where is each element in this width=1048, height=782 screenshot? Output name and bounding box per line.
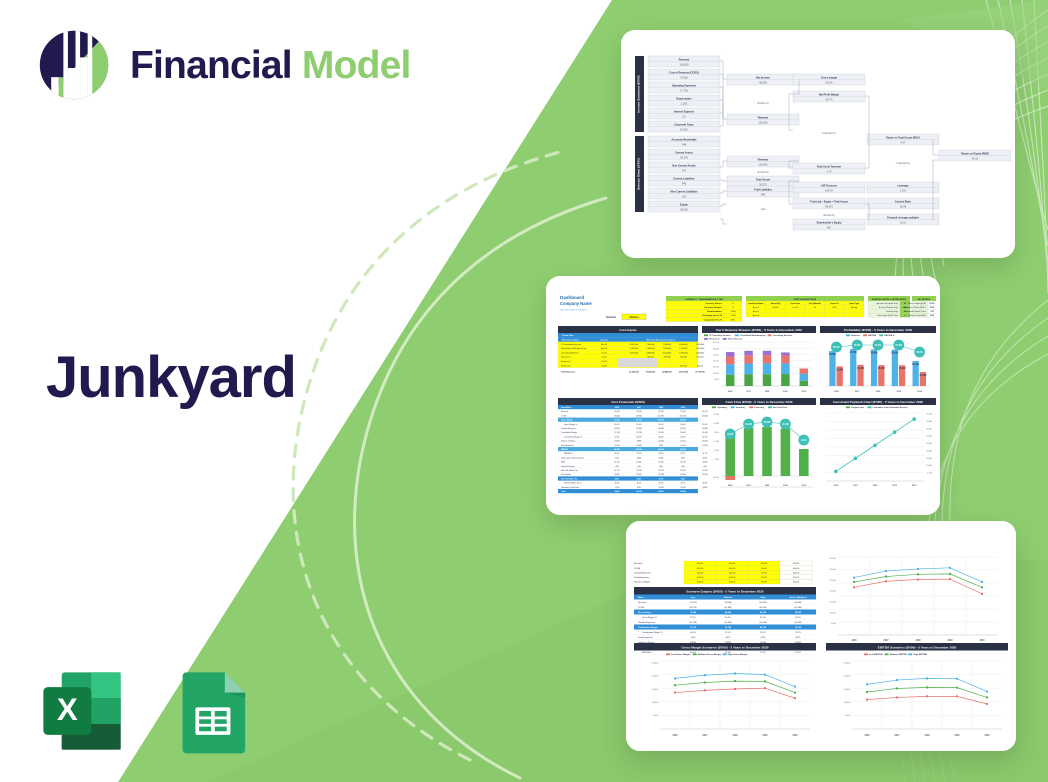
svg-text:100.0%: 100.0% bbox=[729, 568, 736, 570]
svg-text:Other Revenue: Other Revenue bbox=[728, 338, 743, 341]
svg-text:Revenue 5: Revenue 5 bbox=[561, 361, 572, 363]
svg-text:76,750: 76,750 bbox=[795, 627, 802, 629]
svg-text:Investment Payback Chart ($'00: Investment Payback Chart ($'000) - 5 Yea… bbox=[833, 400, 923, 404]
svg-text:948: 948 bbox=[682, 143, 687, 146]
svg-text:2027: 2027 bbox=[702, 735, 708, 737]
svg-text:10,000: 10,000 bbox=[713, 423, 719, 425]
svg-text:CURRENCY / DENOMINATION & TAX: CURRENCY / DENOMINATION & TAX bbox=[685, 298, 724, 301]
svg-text:(12,060): (12,060) bbox=[759, 622, 767, 624]
svg-text:Revenue streams: Revenue streams bbox=[562, 339, 580, 342]
brand-word-model: Model bbox=[302, 44, 411, 87]
svg-text:Go to the Table of Contents: Go to the Table of Contents bbox=[560, 309, 587, 312]
svg-text:55.2%: 55.2% bbox=[760, 632, 766, 634]
svg-text:Gross Margin Scenarios ($'000): Gross Margin Scenarios ($'000) - 5 Years… bbox=[681, 645, 768, 649]
svg-text:18,200: 18,200 bbox=[912, 364, 920, 366]
svg-text:8,298: 8,298 bbox=[703, 478, 708, 480]
svg-text:(301): (301) bbox=[681, 457, 686, 459]
svg-text:Internal Rate of Return (IRR): Internal Rate of Return (IRR) % bbox=[902, 306, 926, 309]
scenario-canvas: Revenue80.0%100.0%120.0%100.0%COGS105.0%… bbox=[626, 521, 1016, 751]
svg-text:Variable Expenses: Variable Expenses bbox=[561, 427, 576, 430]
svg-text:(16,720): (16,720) bbox=[680, 415, 687, 417]
svg-text:30,000: 30,000 bbox=[926, 450, 932, 452]
svg-text:Corporate Taxes: Corporate Taxes bbox=[674, 123, 694, 126]
svg-text:7,568,000: 7,568,000 bbox=[663, 344, 671, 346]
svg-text:79,120: 79,120 bbox=[680, 411, 686, 413]
svg-text:(48): (48) bbox=[681, 466, 685, 468]
svg-text:61.03: 61.03 bbox=[972, 157, 979, 160]
svg-text:6,000: 6,000 bbox=[714, 441, 719, 443]
brand-logo: Financial Model bbox=[36, 27, 411, 103]
svg-text:8,192: 8,192 bbox=[659, 478, 664, 480]
svg-text:(47,880): (47,880) bbox=[794, 607, 802, 609]
svg-text:Launch: Launch bbox=[600, 340, 608, 342]
svg-text:Contribution Margin %: Contribution Margin % bbox=[564, 435, 583, 438]
svg-text:26,600: 26,600 bbox=[871, 352, 879, 354]
svg-text:50,006: 50,006 bbox=[680, 156, 688, 159]
svg-text:34.0%: 34.0% bbox=[658, 453, 663, 455]
svg-text:59,270: 59,270 bbox=[658, 420, 664, 422]
svg-text:65.0%: 65.0% bbox=[636, 424, 641, 426]
svg-text:Net Profit After Tax %: Net Profit After Tax % bbox=[564, 482, 582, 485]
svg-text:12,138: 12,138 bbox=[614, 432, 620, 434]
svg-text:Denominations: Denominations bbox=[707, 310, 723, 313]
svg-text:DEBT ASSUMPTIONS: DEBT ASSUMPTIONS bbox=[794, 298, 817, 301]
svg-text:2027: 2027 bbox=[883, 640, 889, 642]
svg-text:Profitability ($'000) - 5 Year: Profitability ($'000) - 5 Years to Decem… bbox=[844, 328, 913, 332]
svg-text:20,000: 20,000 bbox=[713, 361, 720, 363]
svg-text:16,630,000: 16,630,000 bbox=[629, 372, 638, 374]
svg-text:divided by: divided by bbox=[823, 213, 835, 217]
svg-text:6,510,000: 6,510,000 bbox=[630, 344, 638, 346]
dupont-flowchart: Income Statement ($'000)Balance Sheet ($… bbox=[621, 30, 1015, 258]
svg-text:Total Liabilities: Total Liabilities bbox=[754, 188, 773, 191]
svg-text:10,009: 10,009 bbox=[658, 487, 664, 489]
dupont-analysis-preview-card[interactable]: Income Statement ($'000)Balance Sheet ($… bbox=[621, 30, 1015, 258]
svg-text:Currency Source: Currency Source bbox=[705, 302, 723, 305]
svg-text:100.0%: 100.0% bbox=[793, 572, 800, 574]
svg-text:53.0%: 53.0% bbox=[614, 436, 619, 438]
svg-text:31.7%: 31.7% bbox=[702, 453, 707, 455]
svg-text:16,300: 16,300 bbox=[614, 411, 620, 413]
svg-text:Interest %: Interest % bbox=[830, 302, 839, 305]
svg-text:(16,780): (16,780) bbox=[658, 415, 665, 417]
svg-text:10,330: 10,330 bbox=[763, 422, 771, 424]
svg-text:(12,863): (12,863) bbox=[794, 622, 802, 624]
svg-text:20,000: 20,000 bbox=[652, 676, 659, 678]
svg-text:320,000: 320,000 bbox=[680, 365, 687, 367]
svg-text:(745): (745) bbox=[761, 637, 766, 639]
svg-text:(3,002): (3,002) bbox=[702, 474, 708, 476]
svg-text:(3,801): (3,801) bbox=[614, 474, 620, 476]
svg-text:25,500: 25,500 bbox=[829, 354, 837, 356]
svg-text:41,775: 41,775 bbox=[614, 470, 620, 472]
svg-text:Financial Leverage multiplier: Financial Leverage multiplier bbox=[887, 216, 919, 219]
svg-text:2030: 2030 bbox=[984, 735, 990, 737]
svg-text:88,102: 88,102 bbox=[760, 627, 767, 629]
svg-text:33.0%: 33.0% bbox=[702, 483, 707, 485]
svg-text:105.0%: 105.0% bbox=[697, 568, 704, 570]
svg-text:Medium: Medium bbox=[629, 316, 638, 319]
svg-text:(56): (56) bbox=[703, 466, 707, 468]
svg-text:30,000: 30,000 bbox=[713, 348, 720, 350]
svg-text:35,000: 35,000 bbox=[830, 558, 837, 560]
svg-text:EBITDA Scenarios ($'000) - 5 Y: EBITDA Scenarios ($'000) - 5 Years to De… bbox=[878, 645, 957, 649]
svg-text:High: High bbox=[761, 597, 767, 599]
svg-text:Fixed Expenses: Fixed Expenses bbox=[561, 445, 574, 447]
svg-text:15,400: 15,400 bbox=[857, 367, 865, 370]
svg-text:20,000: 20,000 bbox=[844, 676, 851, 678]
svg-text:Non Current Liabilities: Non Current Liabilities bbox=[671, 190, 698, 193]
svg-text:60: 60 bbox=[814, 307, 816, 309]
svg-text:25,000: 25,000 bbox=[652, 663, 659, 665]
svg-text:Cloud Back Manufacturing: Cloud Back Manufacturing bbox=[740, 334, 766, 337]
svg-text:10,196: 10,196 bbox=[782, 424, 790, 426]
page-title: Junkyard bbox=[46, 349, 296, 407]
svg-text:11,600: 11,600 bbox=[614, 420, 619, 422]
svg-text:Net Profit Before Tax: Net Profit Before Tax bbox=[561, 469, 578, 472]
svg-text:2028: 2028 bbox=[659, 407, 663, 409]
svg-text:Financing: Financing bbox=[755, 407, 765, 409]
svg-text:Operating Expenses: Operating Expenses bbox=[672, 84, 697, 87]
svg-text:77,560: 77,560 bbox=[636, 411, 642, 413]
svg-text:14,300: 14,300 bbox=[836, 368, 844, 371]
svg-text:Cloud Year: Cloud Year bbox=[562, 335, 574, 337]
svg-text:(3,848): (3,848) bbox=[658, 428, 664, 430]
svg-text:Gross Margin: Gross Margin bbox=[561, 419, 574, 422]
svg-text:Loan/Lease Name: Loan/Lease Name bbox=[748, 303, 763, 305]
svg-text:8,404: 8,404 bbox=[615, 490, 620, 493]
svg-text:COGS: COGS bbox=[638, 607, 645, 609]
svg-text:Net Profit After Tax: Net Profit After Tax bbox=[561, 477, 579, 480]
svg-text:2029: 2029 bbox=[947, 640, 953, 642]
svg-text:Total Asset Turnover: Total Asset Turnover bbox=[817, 165, 842, 168]
svg-text:(1,001): (1,001) bbox=[680, 445, 686, 447]
svg-text:164,380: 164,380 bbox=[759, 602, 767, 604]
svg-text:15,000: 15,000 bbox=[652, 689, 659, 691]
svg-text:Annuity: Annuity bbox=[851, 306, 857, 309]
svg-text:Low Gross Margin: Low Gross Margin bbox=[671, 654, 691, 656]
svg-text:COGS: COGS bbox=[561, 415, 567, 417]
svg-text:70,000: 70,000 bbox=[926, 421, 932, 423]
svg-text:20,000: 20,000 bbox=[830, 591, 837, 593]
svg-text:Grace Type: Grace Type bbox=[849, 303, 859, 305]
svg-text:Interest Expense: Interest Expense bbox=[674, 110, 695, 113]
svg-text:Investing: Investing bbox=[736, 406, 746, 409]
svg-text:Balance Sheet ($'000): Balance Sheet ($'000) bbox=[637, 158, 641, 190]
svg-text:15,000: 15,000 bbox=[844, 689, 851, 691]
svg-text:11,005: 11,005 bbox=[680, 487, 685, 489]
svg-text:100.0%: 100.0% bbox=[729, 572, 736, 574]
svg-text:18,214: 18,214 bbox=[636, 490, 642, 493]
svg-text:100.0%: 100.0% bbox=[729, 577, 736, 579]
svg-text:57.0%: 57.0% bbox=[896, 345, 903, 347]
svg-text:1.000: 1.000 bbox=[730, 315, 736, 317]
svg-text:78,110: 78,110 bbox=[702, 411, 707, 413]
svg-text:5: 5 bbox=[905, 315, 906, 317]
dashboard-canvas: DashboardCompany NameGo to the Table of … bbox=[546, 276, 940, 515]
svg-text:Gross Margin: Gross Margin bbox=[638, 611, 652, 614]
svg-text:2030: 2030 bbox=[703, 407, 707, 409]
svg-text:14,200: 14,200 bbox=[636, 462, 642, 464]
svg-text:72,844: 72,844 bbox=[690, 611, 697, 614]
svg-text:Total Liab + Equity = Total As: Total Liab + Equity = Total Assets bbox=[810, 200, 848, 203]
svg-text:48,828: 48,828 bbox=[759, 81, 767, 84]
svg-text:Return on Total Assets (ROA): Return on Total Assets (ROA) bbox=[886, 136, 920, 139]
svg-text:800: 800 bbox=[827, 226, 832, 229]
svg-text:Low EBITDA: Low EBITDA bbox=[869, 653, 883, 656]
svg-text:Low: Low bbox=[691, 597, 696, 599]
svg-text:Revenue: Revenue bbox=[638, 602, 647, 604]
svg-text:26,500: 26,500 bbox=[891, 353, 899, 355]
svg-text:(988): (988) bbox=[637, 441, 642, 443]
svg-text:28,440,000: 28,440,000 bbox=[662, 371, 671, 374]
svg-text:A/R Turnover: A/R Turnover bbox=[821, 184, 837, 187]
svg-text:95.0%: 95.0% bbox=[761, 568, 767, 570]
svg-text:Dashboard: Dashboard bbox=[560, 295, 584, 300]
svg-text:8,111: 8,111 bbox=[681, 478, 685, 480]
svg-text:1.0%: 1.0% bbox=[900, 189, 906, 192]
svg-text:Gross Margin %: Gross Margin % bbox=[642, 616, 657, 619]
svg-text:1,000: 1,000 bbox=[927, 473, 932, 475]
google-sheets-icon bbox=[166, 665, 258, 757]
svg-text:Corporation Tax %: Corporation Tax % bbox=[704, 318, 722, 321]
svg-text:48,009: 48,009 bbox=[658, 448, 664, 451]
svg-text:Exchange rate to 1$: Exchange rate to 1$ bbox=[702, 314, 722, 317]
brand-word-financial: Financial bbox=[130, 44, 292, 87]
svg-text:Active (Medium): Active (Medium) bbox=[790, 596, 807, 599]
svg-text:33.7%: 33.7% bbox=[680, 453, 685, 455]
svg-text:Total Assets: Total Assets bbox=[756, 178, 771, 181]
svg-text:Salaries & Wages: Salaries & Wages bbox=[561, 440, 576, 443]
svg-text:10,000: 10,000 bbox=[830, 612, 837, 614]
svg-text:Net Income: Net Income bbox=[756, 76, 770, 79]
svg-text:27,560,000: 27,560,000 bbox=[646, 372, 655, 374]
svg-text:1,050: 1,050 bbox=[930, 315, 934, 317]
svg-text:46.3%: 46.3% bbox=[690, 632, 696, 634]
svg-text:2029: 2029 bbox=[681, 407, 685, 409]
svg-text:1,265: 1,265 bbox=[681, 102, 688, 105]
svg-text:2028: 2028 bbox=[732, 735, 738, 737]
svg-text:Revenue: Revenue bbox=[851, 335, 861, 337]
svg-text:105.0%: 105.0% bbox=[697, 582, 704, 584]
svg-text:(837): (837) bbox=[796, 637, 801, 639]
svg-text:multiplied by: multiplied by bbox=[896, 161, 911, 165]
svg-text:11,812: 11,812 bbox=[702, 470, 707, 472]
svg-text:Top 5 Revenue Streams ($'000): Top 5 Revenue Streams ($'000) - 5 Years … bbox=[716, 328, 803, 332]
svg-text:(837): (837) bbox=[726, 637, 731, 639]
svg-text:Total Revenue: Total Revenue bbox=[561, 371, 576, 374]
svg-text:136,800: 136,800 bbox=[758, 121, 768, 124]
svg-text:Discounted Payback (Years): Discounted Payback (Years) bbox=[905, 310, 927, 313]
svg-text:Operating: Operating bbox=[717, 406, 727, 409]
svg-text:Revenue Forecast for years 1: Revenue Forecast for years 1 bbox=[647, 339, 677, 342]
scenario-analysis-preview-card[interactable]: Revenue80.0%100.0%120.0%100.0%COGS105.0%… bbox=[626, 521, 1016, 751]
svg-text:6,080,000: 6,080,000 bbox=[646, 352, 654, 354]
svg-text:0.97: 0.97 bbox=[901, 141, 906, 144]
svg-text:48,206: 48,206 bbox=[636, 448, 642, 451]
svg-text:Asset 1: Asset 1 bbox=[753, 306, 759, 309]
svg-text:146,800: 146,800 bbox=[794, 602, 802, 604]
svg-text:(987): (987) bbox=[659, 445, 664, 447]
svg-text:61.0%: 61.0% bbox=[930, 303, 935, 305]
svg-text:KEY METRICS: KEY METRICS bbox=[918, 299, 932, 301]
svg-text:100.0%: 100.0% bbox=[729, 582, 736, 584]
svg-text:68,774: 68,774 bbox=[636, 419, 642, 422]
svg-text:131,130: 131,130 bbox=[689, 602, 697, 604]
svg-text:146,800: 146,800 bbox=[724, 602, 732, 604]
svg-text:Equity: Equity bbox=[680, 203, 688, 206]
svg-text:(298): (298) bbox=[659, 457, 664, 459]
svg-text:15,000: 15,000 bbox=[830, 602, 837, 604]
svg-text:Actual/Plan: Actual/Plan bbox=[561, 406, 572, 409]
svg-text:Asset 2: Asset 2 bbox=[753, 310, 759, 313]
svg-text:14,000: 14,000 bbox=[697, 365, 703, 367]
svg-text:35.0%: 35.0% bbox=[636, 453, 641, 455]
svg-text:Jul-26: Jul-26 bbox=[601, 352, 607, 354]
svg-text:2030: 2030 bbox=[979, 640, 985, 642]
svg-text:25,000: 25,000 bbox=[830, 580, 837, 582]
svg-text:Medium EBITDA: Medium EBITDA bbox=[890, 653, 907, 656]
svg-text:5,000: 5,000 bbox=[653, 715, 659, 717]
svg-text:IT Consulting Services: IT Consulting Services bbox=[709, 334, 731, 337]
svg-text:60.4%: 60.4% bbox=[795, 617, 801, 619]
svg-text:34.0%: 34.0% bbox=[614, 483, 619, 485]
svg-text:5,000: 5,000 bbox=[831, 623, 837, 625]
svg-text:Jul-26: Jul-26 bbox=[601, 357, 607, 359]
svg-text:(291): (291) bbox=[703, 457, 708, 459]
svg-text:Shareholder's Equity: Shareholder's Equity bbox=[817, 221, 843, 224]
svg-text:Medium: Medium bbox=[724, 597, 732, 599]
svg-text:Revenue: Revenue bbox=[679, 58, 690, 61]
svg-text:56.0%: 56.0% bbox=[636, 436, 641, 438]
svg-text:136,800: 136,800 bbox=[679, 63, 689, 66]
svg-text:52.1%: 52.1% bbox=[725, 632, 731, 634]
svg-text:Non Current Assets: Non Current Assets bbox=[672, 164, 696, 167]
svg-text:5,000: 5,000 bbox=[714, 379, 720, 381]
svg-text:19.6%: 19.6% bbox=[930, 307, 935, 309]
svg-text:100.0%: 100.0% bbox=[729, 563, 736, 565]
svg-text:4,810,000: 4,810,000 bbox=[630, 352, 638, 354]
svg-text:58.7%: 58.7% bbox=[690, 617, 696, 619]
svg-text:38,002: 38,002 bbox=[680, 491, 686, 493]
svg-text:Gross Margin %: Gross Margin % bbox=[564, 423, 578, 426]
svg-text:55,990: 55,990 bbox=[658, 432, 664, 434]
svg-text:(2,891): (2,891) bbox=[636, 474, 642, 476]
svg-text:80.0%: 80.0% bbox=[697, 563, 703, 565]
svg-text:Tax Payable: Tax Payable bbox=[561, 474, 571, 476]
svg-text:50,576: 50,576 bbox=[825, 205, 833, 208]
svg-text:15,100: 15,100 bbox=[899, 368, 907, 370]
svg-text:8,246: 8,246 bbox=[727, 433, 733, 436]
svg-text:Jul-27: Jul-27 bbox=[601, 361, 607, 363]
svg-text:Jul-28: Jul-28 bbox=[601, 365, 607, 367]
svg-text:Variable Expenses: Variable Expenses bbox=[634, 571, 651, 574]
svg-text:20,926: 20,926 bbox=[680, 128, 688, 131]
svg-text:48,208: 48,208 bbox=[614, 448, 620, 451]
svg-text:Asset 3: Asset 3 bbox=[753, 314, 759, 317]
svg-text:98,340: 98,340 bbox=[760, 611, 767, 614]
svg-text:7,040,000: 7,040,000 bbox=[646, 344, 654, 346]
svg-text:50,000: 50,000 bbox=[926, 436, 932, 438]
svg-text:100.0%: 100.0% bbox=[793, 577, 800, 579]
svg-text:2029: 2029 bbox=[762, 735, 768, 737]
svg-text:Cumulative Cash Generated (los: Cumulative Cash Generated (losses) bbox=[873, 406, 908, 409]
svg-text:65.0%: 65.0% bbox=[702, 424, 707, 426]
svg-text:(8,320): (8,320) bbox=[702, 415, 708, 417]
dashboard-graphic: DashboardCompany NameGo to the Table of … bbox=[546, 276, 940, 515]
svg-text:(2,998): (2,998) bbox=[658, 474, 664, 476]
svg-text:6,030,000: 6,030,000 bbox=[696, 352, 704, 354]
svg-text:90.0%: 90.0% bbox=[761, 572, 767, 574]
svg-text:4,000: 4,000 bbox=[714, 450, 719, 452]
svg-text:Core Inputs: Core Inputs bbox=[619, 328, 636, 332]
svg-text:8,030,000: 8,030,000 bbox=[679, 344, 687, 346]
svg-text:Payback year: Payback year bbox=[851, 407, 864, 409]
svg-text:10,200: 10,200 bbox=[919, 375, 927, 377]
svg-text:33.7%: 33.7% bbox=[680, 483, 685, 485]
svg-text:65.0%: 65.0% bbox=[825, 81, 833, 84]
svg-text:100.0%: 100.0% bbox=[793, 582, 800, 584]
svg-text:8,247: 8,247 bbox=[637, 477, 642, 480]
svg-text:5,310,000: 5,310,000 bbox=[630, 348, 638, 350]
svg-text:13,299: 13,299 bbox=[680, 462, 686, 464]
svg-text:7,900: 7,900 bbox=[615, 487, 620, 489]
svg-text:Depreciation & Amortisation: Depreciation & Amortisation bbox=[561, 456, 584, 459]
svg-text:56.0%: 56.0% bbox=[658, 436, 663, 438]
svg-text:Company Name: Company Name bbox=[560, 301, 592, 306]
svg-text:High Gross Margin: High Gross Margin bbox=[728, 654, 748, 656]
svg-text:508,000: 508,000 bbox=[664, 357, 671, 359]
svg-text:52,045: 52,045 bbox=[702, 432, 708, 434]
svg-text:17,758: 17,758 bbox=[680, 89, 688, 92]
svg-text:COGS: COGS bbox=[634, 568, 641, 570]
svg-text:(2,212): (2,212) bbox=[680, 441, 686, 443]
svg-text:Return on Equity (ROE): Return on Equity (ROE) bbox=[961, 152, 989, 155]
svg-text:10,000: 10,000 bbox=[652, 702, 659, 704]
svg-text:Contribution Margin: Contribution Margin bbox=[638, 626, 659, 629]
svg-text:65.0%: 65.0% bbox=[658, 424, 663, 426]
svg-text:8,160,000: 8,160,000 bbox=[696, 344, 704, 346]
svg-text:(1,102): (1,102) bbox=[702, 445, 708, 447]
svg-text:(3,998): (3,998) bbox=[702, 428, 708, 430]
svg-text:62.1%: 62.1% bbox=[760, 617, 766, 619]
svg-text:2027: 2027 bbox=[637, 407, 641, 409]
svg-text:58,400: 58,400 bbox=[680, 419, 686, 422]
svg-text:Revenue 4: Revenue 4 bbox=[709, 338, 720, 341]
svg-text:Salaries & Wages: Salaries & Wages bbox=[634, 581, 650, 584]
svg-text:Mar-26: Mar-26 bbox=[601, 344, 608, 346]
app-icons-row: X bbox=[36, 665, 258, 757]
svg-text:multiplied by: multiplied by bbox=[822, 131, 837, 135]
dashboard-preview-card[interactable]: DashboardCompany NameGo to the Table of … bbox=[546, 276, 940, 515]
svg-text:20,000: 20,000 bbox=[926, 458, 932, 460]
svg-text:Revenue: Revenue bbox=[758, 158, 769, 161]
svg-text:2027: 2027 bbox=[894, 735, 900, 737]
svg-text:57.0%: 57.0% bbox=[760, 652, 766, 654]
dupont-analysis-canvas: Income Statement ($'000)Balance Sheet ($… bbox=[621, 30, 1015, 258]
svg-text:Contribution Margin: Contribution Margin bbox=[561, 431, 577, 434]
svg-text:63.22: 63.22 bbox=[900, 222, 906, 224]
svg-text:88,920: 88,920 bbox=[795, 612, 802, 614]
svg-text:(9,540): (9,540) bbox=[614, 415, 620, 417]
svg-text:Return on Equity (ROE): Return on Equity (ROE) bbox=[908, 302, 926, 305]
svg-text:30,000: 30,000 bbox=[830, 569, 837, 571]
svg-text:136,800: 136,800 bbox=[758, 163, 768, 166]
svg-text:11,205: 11,205 bbox=[680, 470, 685, 472]
svg-text:7,568,000: 7,568,000 bbox=[663, 348, 671, 350]
svg-text:Scenario: Scenario bbox=[606, 316, 617, 319]
scenario-graphic: Revenue80.0%100.0%120.0%100.0%COGS105.0%… bbox=[626, 521, 1016, 751]
